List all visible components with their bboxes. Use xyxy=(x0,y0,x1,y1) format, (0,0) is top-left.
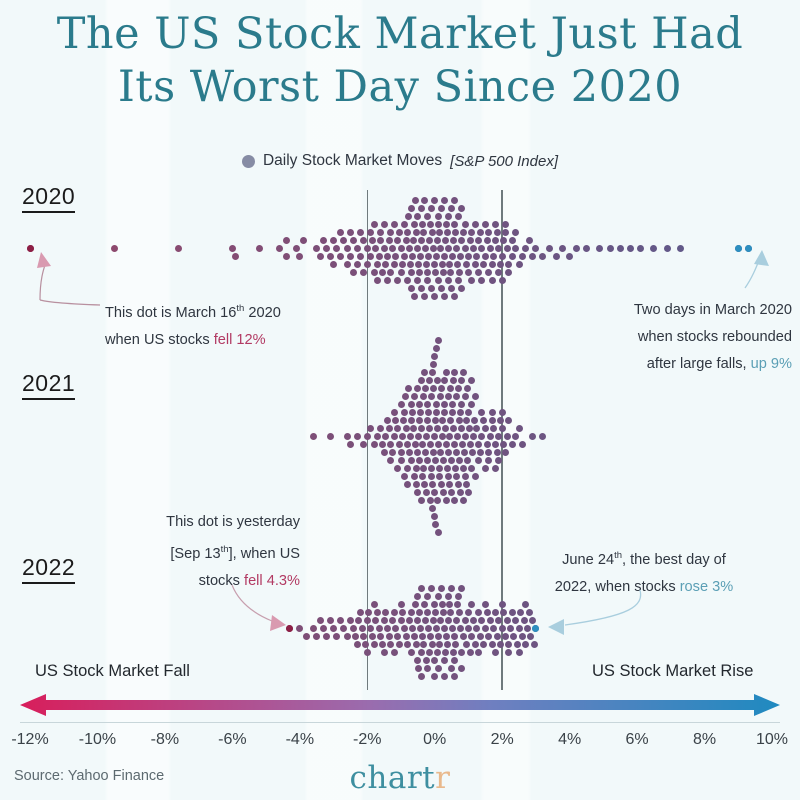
data-point xyxy=(432,417,439,424)
data-point xyxy=(504,617,511,624)
data-point xyxy=(471,417,478,424)
data-point xyxy=(412,197,419,204)
title-line-1: The US Stock Market Just Had xyxy=(57,9,744,59)
data-point xyxy=(596,245,603,252)
data-point xyxy=(492,609,499,616)
data-point xyxy=(419,221,426,228)
data-point xyxy=(229,245,236,252)
data-point xyxy=(516,649,523,656)
data-point xyxy=(350,237,357,244)
data-point xyxy=(439,417,446,424)
data-point xyxy=(391,409,398,416)
data-point xyxy=(497,641,504,648)
data-point xyxy=(502,229,509,236)
data-point xyxy=(410,237,417,244)
data-point xyxy=(457,409,464,416)
data-point xyxy=(392,253,399,260)
data-point xyxy=(408,205,415,212)
connector-yesterday-arrowhead xyxy=(270,615,286,631)
data-point xyxy=(489,261,496,268)
data-point xyxy=(407,261,414,268)
data-point xyxy=(371,601,378,608)
chartr-logo: chartr xyxy=(0,760,800,796)
axis-tick-labels: -12%-10%-8%-6%-4%-2%0%2%4%6%8%10% xyxy=(0,731,800,755)
data-point xyxy=(435,337,442,344)
data-point xyxy=(396,229,403,236)
data-point xyxy=(505,649,512,656)
connector-mar16-stem xyxy=(40,262,46,300)
data-point xyxy=(512,245,519,252)
data-point xyxy=(468,277,475,284)
data-point xyxy=(313,245,320,252)
data-point xyxy=(418,673,425,680)
data-point xyxy=(607,245,614,252)
data-point xyxy=(514,641,521,648)
data-point xyxy=(413,481,420,488)
year-label-2022: 2022 xyxy=(22,554,75,584)
data-point xyxy=(431,197,438,204)
data-point xyxy=(431,433,438,440)
data-point xyxy=(416,401,423,408)
data-point xyxy=(450,425,457,432)
annot-mar16-line1: This dot is March 16 xyxy=(105,305,236,321)
data-point xyxy=(455,385,462,392)
data-point xyxy=(406,449,413,456)
data-point xyxy=(384,277,391,284)
data-point xyxy=(499,625,506,632)
annot-june24-sup: th xyxy=(614,550,622,561)
data-point xyxy=(458,649,465,656)
data-point xyxy=(448,665,455,672)
data-point xyxy=(418,425,425,432)
data-point xyxy=(447,609,454,616)
data-point xyxy=(300,237,307,244)
data-point xyxy=(389,617,396,624)
annot-rebound-line1: Two days in March 2020 xyxy=(600,297,792,324)
data-point xyxy=(478,245,485,252)
data-point xyxy=(434,377,441,384)
axis-tick-1: -10% xyxy=(79,731,116,749)
data-point xyxy=(451,633,458,640)
data-point xyxy=(398,269,405,276)
data-point xyxy=(465,489,472,496)
data-point xyxy=(436,641,443,648)
data-point xyxy=(447,269,454,276)
data-point xyxy=(441,253,448,260)
data-point xyxy=(460,497,467,504)
data-point xyxy=(414,385,421,392)
data-point xyxy=(421,369,428,376)
data-point xyxy=(446,601,453,608)
data-point xyxy=(472,393,479,400)
annot-rebound-line2: when stocks rebounded xyxy=(600,324,792,351)
data-point xyxy=(418,649,425,656)
data-point xyxy=(398,617,405,624)
data-point xyxy=(443,221,450,228)
data-point xyxy=(458,425,465,432)
data-point xyxy=(489,409,496,416)
data-point xyxy=(403,237,410,244)
data-point xyxy=(427,221,434,228)
data-point xyxy=(428,205,435,212)
data-point xyxy=(421,293,428,300)
data-point xyxy=(441,625,448,632)
data-point xyxy=(475,269,482,276)
data-point xyxy=(454,433,461,440)
data-point xyxy=(453,245,460,252)
data-point xyxy=(413,229,420,236)
data-point xyxy=(455,593,462,600)
data-point xyxy=(438,481,445,488)
data-point xyxy=(519,441,526,448)
data-point xyxy=(403,425,410,432)
data-point xyxy=(427,441,434,448)
data-point xyxy=(442,425,449,432)
data-point xyxy=(470,617,477,624)
data-point xyxy=(422,449,429,456)
data-point xyxy=(468,401,475,408)
data-point xyxy=(435,441,442,448)
data-point xyxy=(408,649,415,656)
data-point xyxy=(352,633,359,640)
data-point xyxy=(377,237,384,244)
data-point xyxy=(505,269,512,276)
data-point xyxy=(522,245,529,252)
data-point xyxy=(384,625,391,632)
data-point xyxy=(463,641,470,648)
legend-dot-icon xyxy=(242,155,255,168)
data-point xyxy=(468,465,475,472)
data-point xyxy=(485,457,492,464)
data-point xyxy=(448,585,455,592)
data-point xyxy=(391,261,398,268)
data-point xyxy=(472,221,479,228)
data-point xyxy=(379,441,386,448)
data-point xyxy=(401,625,408,632)
data-point xyxy=(487,617,494,624)
data-point xyxy=(409,253,416,260)
data-point xyxy=(546,245,553,252)
data-point xyxy=(519,253,526,260)
data-point xyxy=(391,433,398,440)
data-point xyxy=(377,425,384,432)
data-point xyxy=(495,617,502,624)
data-point xyxy=(512,433,519,440)
data-point xyxy=(414,657,421,664)
data-point xyxy=(454,601,461,608)
data-point xyxy=(320,237,327,244)
data-point xyxy=(359,625,366,632)
data-point xyxy=(425,253,432,260)
data-point xyxy=(391,609,398,616)
data-point xyxy=(424,401,431,408)
data-point xyxy=(379,641,386,648)
data-point xyxy=(492,441,499,448)
data-point xyxy=(408,269,415,276)
data-point xyxy=(317,253,324,260)
data-point xyxy=(475,457,482,464)
data-point xyxy=(392,625,399,632)
data-point xyxy=(512,229,519,236)
data-point xyxy=(347,617,354,624)
data-point xyxy=(531,641,538,648)
data-point xyxy=(330,261,337,268)
data-point xyxy=(428,465,435,472)
data-point xyxy=(371,221,378,228)
data-point xyxy=(502,221,509,228)
data-point xyxy=(490,425,497,432)
data-point xyxy=(432,609,439,616)
data-point xyxy=(462,617,469,624)
data-point xyxy=(435,221,442,228)
annot-yesterday-line1: This dot is yesterday xyxy=(155,509,300,536)
data-point xyxy=(650,245,657,252)
data-point xyxy=(424,457,431,464)
data-point xyxy=(468,377,475,384)
data-point xyxy=(492,237,499,244)
data-point xyxy=(509,237,516,244)
data-point xyxy=(411,393,418,400)
data-point xyxy=(399,261,406,268)
data-point xyxy=(333,245,340,252)
data-point xyxy=(484,237,491,244)
data-point xyxy=(445,473,452,480)
data-point xyxy=(424,417,431,424)
data-point xyxy=(440,269,447,276)
data-point xyxy=(367,229,374,236)
data-point xyxy=(283,237,290,244)
data-point xyxy=(357,229,364,236)
data-point xyxy=(401,473,408,480)
data-point xyxy=(387,641,394,648)
data-point xyxy=(447,385,454,392)
data-point xyxy=(413,465,420,472)
data-point xyxy=(425,409,432,416)
data-point xyxy=(364,649,371,656)
data-point xyxy=(389,449,396,456)
data-point xyxy=(433,409,440,416)
annot-june24-line1-pre: June 24 xyxy=(562,552,614,568)
data-point xyxy=(424,269,431,276)
data-point xyxy=(465,253,472,260)
data-point xyxy=(296,253,303,260)
data-point xyxy=(175,245,182,252)
data-point xyxy=(355,617,362,624)
data-point xyxy=(448,457,455,464)
data-point xyxy=(495,457,502,464)
data-point xyxy=(374,433,381,440)
data-point xyxy=(507,625,514,632)
data-point xyxy=(415,433,422,440)
data-point xyxy=(404,441,411,448)
data-point xyxy=(427,497,434,504)
data-point xyxy=(379,269,386,276)
data-point xyxy=(495,269,502,276)
data-point xyxy=(451,293,458,300)
data-point xyxy=(374,261,381,268)
data-point xyxy=(376,625,383,632)
legend-sublabel: [S&P 500 Index] xyxy=(450,153,558,170)
data-point xyxy=(445,393,452,400)
data-point xyxy=(426,377,433,384)
data-point xyxy=(461,449,468,456)
data-point xyxy=(431,353,438,360)
data-point xyxy=(451,369,458,376)
data-point xyxy=(447,417,454,424)
connector-rebound-stem xyxy=(745,258,760,288)
data-point xyxy=(456,609,463,616)
data-point xyxy=(428,585,435,592)
data-point xyxy=(418,205,425,212)
data-point xyxy=(310,433,317,440)
data-point xyxy=(424,665,431,672)
data-point xyxy=(445,449,452,456)
data-point xyxy=(441,293,448,300)
annot-yesterday-line3-pre: stocks xyxy=(199,573,244,589)
data-point xyxy=(387,441,394,448)
data-point xyxy=(347,253,354,260)
data-point xyxy=(433,253,440,260)
data-point xyxy=(419,473,426,480)
data-point xyxy=(505,417,512,424)
data-point xyxy=(452,641,459,648)
data-point xyxy=(443,369,450,376)
data-point xyxy=(391,221,398,228)
data-point xyxy=(369,633,376,640)
data-point xyxy=(365,609,372,616)
data-point xyxy=(429,505,436,512)
data-point xyxy=(460,229,467,236)
data-point xyxy=(477,449,484,456)
axis-caption-fall: US Stock Market Fall xyxy=(35,662,190,681)
data-point xyxy=(419,633,426,640)
data-point xyxy=(462,433,469,440)
data-point xyxy=(485,633,492,640)
data-point xyxy=(509,253,516,260)
data-point xyxy=(463,481,470,488)
data-point xyxy=(516,425,523,432)
data-point xyxy=(367,425,374,432)
data-point xyxy=(344,633,351,640)
data-point xyxy=(484,609,491,616)
data-point xyxy=(404,641,411,648)
data-point xyxy=(522,641,529,648)
data-point xyxy=(364,245,371,252)
data-point xyxy=(460,633,467,640)
data-point xyxy=(484,441,491,448)
data-point xyxy=(411,293,418,300)
data-point xyxy=(367,625,374,632)
data-point xyxy=(437,617,444,624)
data-point xyxy=(367,253,374,260)
annot-yesterday-line2-post: ], when US xyxy=(229,546,300,562)
data-point xyxy=(435,633,442,640)
data-point xyxy=(330,625,337,632)
data-point xyxy=(418,377,425,384)
data-point xyxy=(458,377,465,384)
data-point xyxy=(386,633,393,640)
data-point xyxy=(451,441,458,448)
data-point xyxy=(429,369,436,376)
data-point xyxy=(422,617,429,624)
data-point xyxy=(340,237,347,244)
data-point xyxy=(412,601,419,608)
data-point xyxy=(386,237,393,244)
data-point xyxy=(391,649,398,656)
data-point xyxy=(417,625,424,632)
data-point xyxy=(436,229,443,236)
data-point xyxy=(478,433,485,440)
data-point xyxy=(389,245,396,252)
data-point xyxy=(441,673,448,680)
data-point xyxy=(410,425,417,432)
data-point xyxy=(462,221,469,228)
data-point xyxy=(463,417,470,424)
data-point xyxy=(406,617,413,624)
data-point xyxy=(539,433,546,440)
data-point xyxy=(310,625,317,632)
data-point xyxy=(466,425,473,432)
annotation-march-2020-rebound: Two days in March 2020 when stocks rebou… xyxy=(600,297,792,378)
data-point xyxy=(276,245,283,252)
data-point xyxy=(364,617,371,624)
data-point xyxy=(553,253,560,260)
data-point xyxy=(617,245,624,252)
data-point xyxy=(381,245,388,252)
annot-mar16-tail: 2020 xyxy=(244,305,281,321)
annot-june24-highlight: rose 3% xyxy=(680,579,734,595)
data-point xyxy=(505,641,512,648)
data-point xyxy=(435,277,442,284)
data-point xyxy=(430,449,437,456)
data-point xyxy=(407,433,414,440)
data-point xyxy=(330,237,337,244)
data-point xyxy=(445,213,452,220)
data-point xyxy=(504,245,511,252)
data-point xyxy=(452,465,459,472)
data-point-notable xyxy=(745,245,752,252)
data-point xyxy=(396,641,403,648)
data-point xyxy=(421,481,428,488)
data-point xyxy=(446,433,453,440)
connector-mar16-tail xyxy=(40,300,100,305)
data-point xyxy=(429,229,436,236)
data-point xyxy=(371,441,378,448)
axis-tick-10: 8% xyxy=(693,731,716,749)
data-point xyxy=(445,245,452,252)
data-point xyxy=(467,649,474,656)
data-point xyxy=(337,253,344,260)
data-point xyxy=(404,465,411,472)
data-point xyxy=(440,457,447,464)
data-point xyxy=(468,229,475,236)
data-point xyxy=(448,205,455,212)
data-point xyxy=(500,441,507,448)
data-point xyxy=(451,221,458,228)
data-point xyxy=(408,457,415,464)
data-point xyxy=(381,649,388,656)
data-point xyxy=(415,261,422,268)
data-point xyxy=(408,285,415,292)
data-point xyxy=(431,601,438,608)
data-point xyxy=(323,245,330,252)
data-point xyxy=(492,221,499,228)
data-point xyxy=(416,609,423,616)
data-point xyxy=(492,649,499,656)
data-point xyxy=(502,449,509,456)
data-point xyxy=(499,409,506,416)
data-point xyxy=(454,261,461,268)
